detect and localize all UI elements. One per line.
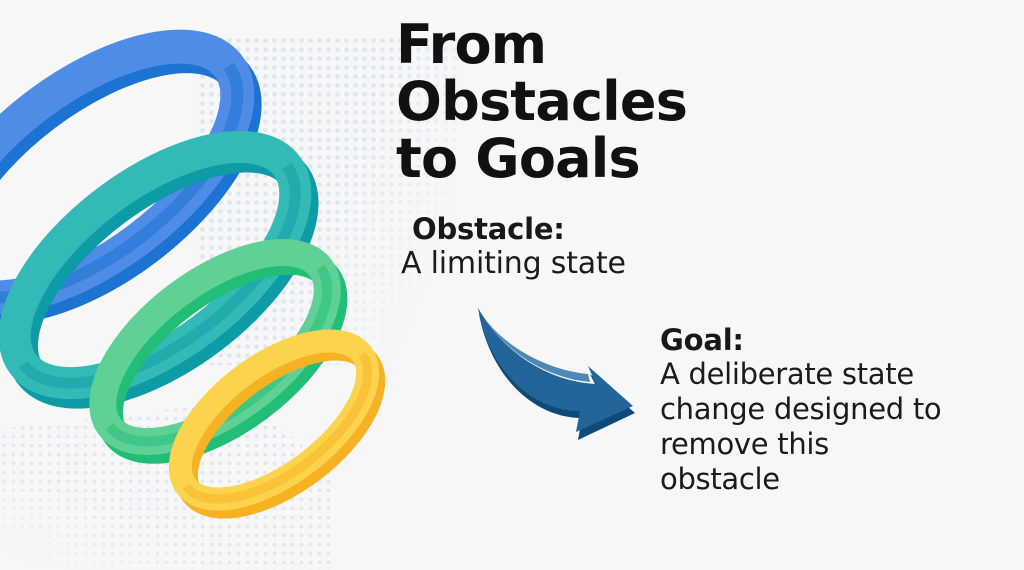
goal-body-line-2: change designed to — [660, 392, 990, 427]
title-line-1: From — [396, 16, 726, 73]
goal-body-line-3: remove this — [660, 427, 990, 462]
slide-canvas: From Obstacles to Goals Obstacle: A limi… — [0, 0, 1024, 570]
obstacle-heading: Obstacle: — [398, 212, 698, 246]
goal-block: Goal: A deliberate state change designed… — [660, 324, 990, 497]
title-line-3: to Goals — [396, 130, 726, 187]
page-title: From Obstacles to Goals — [396, 16, 726, 187]
ring-yellow — [154, 311, 401, 530]
ring-teal — [0, 102, 342, 438]
curved-arrow-icon — [470, 300, 640, 445]
obstacle-block: Obstacle: A limiting state — [398, 212, 698, 282]
goal-body-line-4: obstacle — [660, 462, 990, 497]
ring-green — [71, 216, 365, 486]
dotted-halftone-pattern — [0, 0, 460, 570]
goal-heading: Goal: — [660, 324, 990, 357]
overlapping-rings-graphic — [0, 0, 420, 530]
obstacle-body: A limiting state — [398, 246, 698, 282]
goal-body: A deliberate state change designed to re… — [660, 357, 990, 497]
goal-body-line-1: A deliberate state — [660, 357, 990, 392]
title-line-2: Obstacles — [396, 73, 726, 130]
ring-blue — [0, 0, 286, 355]
